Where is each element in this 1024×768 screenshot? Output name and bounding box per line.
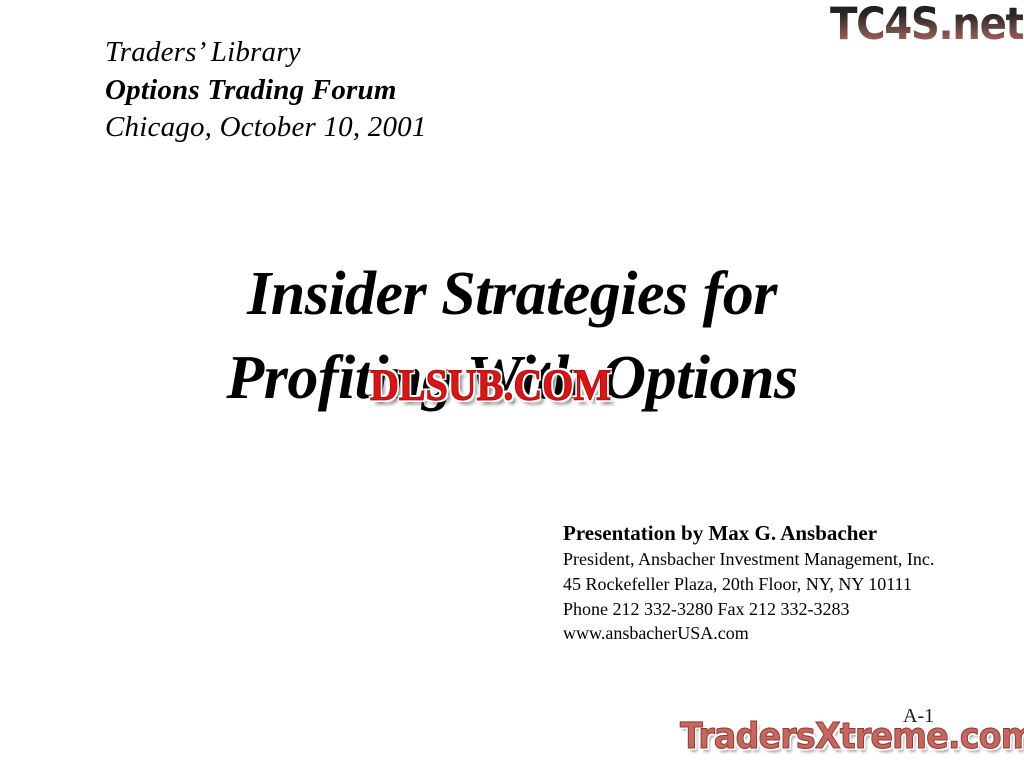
tc4s-watermark: TC4S.net bbox=[830, 2, 1023, 47]
dlsub-watermark: DLSUB.COM bbox=[370, 358, 611, 411]
header-event: Options Trading Forum bbox=[105, 72, 427, 110]
presenter-name: Presentation by Max G. Ansbacher bbox=[563, 520, 934, 547]
presenter-block: Presentation by Max G. Ansbacher Preside… bbox=[563, 520, 934, 646]
presentation-slide: TC4S.net Traders’ Library Options Tradin… bbox=[0, 0, 1024, 768]
header-organizer: Traders’ Library bbox=[105, 34, 427, 72]
title-line-1: Insider Strategies for bbox=[0, 252, 1024, 336]
tradersxtreme-watermark: TradersXtreme.com bbox=[680, 719, 1024, 755]
slide-header: Traders’ Library Options Trading Forum C… bbox=[105, 34, 427, 147]
presenter-role: President, Ansbacher Investment Manageme… bbox=[563, 547, 934, 572]
header-location-date: Chicago, October 10, 2001 bbox=[105, 109, 427, 147]
presenter-address: 45 Rockefeller Plaza, 20th Floor, NY, NY… bbox=[563, 572, 934, 597]
presenter-contact: Phone 212 332-3280 Fax 212 332-3283 bbox=[563, 597, 934, 622]
presenter-website: www.ansbacherUSA.com bbox=[563, 621, 934, 646]
